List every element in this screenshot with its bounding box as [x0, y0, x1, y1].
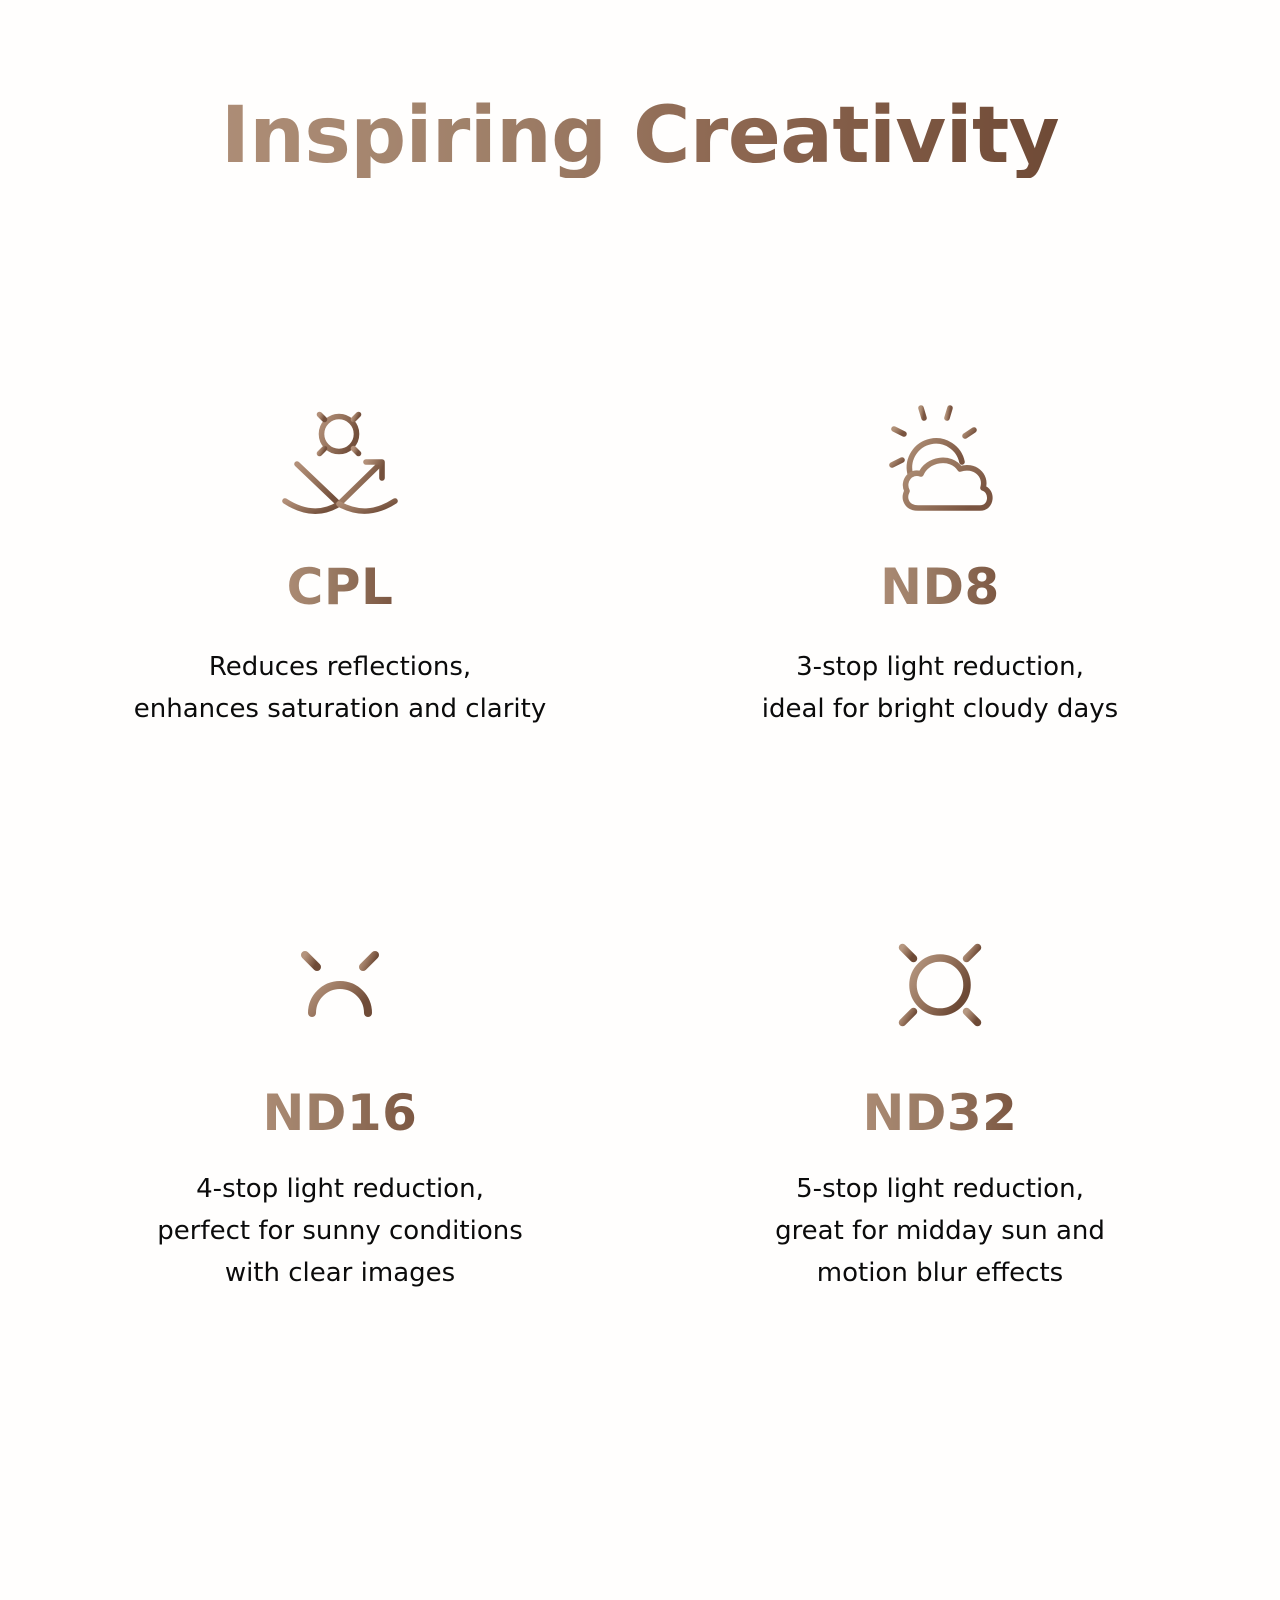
sun-reflection-polarizer-icon: [260, 400, 420, 520]
page-title: Inspiring Creativity: [221, 96, 1059, 178]
page-title-container: Inspiring Creativity: [0, 96, 1280, 178]
filter-description-nd8: 3-stop light reduction, ideal for bright…: [762, 646, 1118, 730]
filter-card-nd16: ND16 4-stop light reduction, perfect for…: [40, 930, 640, 1460]
bright-sun-icon: [860, 930, 1020, 1040]
filter-description-cpl: Reduces reflections, enhances saturation…: [134, 646, 546, 730]
filter-name-nd32: ND32: [863, 1088, 1018, 1138]
sun-behind-cloud-icon: [860, 400, 1020, 520]
filter-grid: CPL Reduces reflections, enhances satura…: [40, 400, 1240, 1460]
filter-name-cpl: CPL: [287, 562, 394, 612]
sunrise-horizon-icon: [260, 930, 420, 1040]
filter-name-nd16: ND16: [263, 1088, 418, 1138]
filter-card-nd8: ND8 3-stop light reduction, ideal for br…: [640, 400, 1240, 930]
filter-card-nd32: ND32 5-stop light reduction, great for m…: [640, 930, 1240, 1460]
filter-card-cpl: CPL Reduces reflections, enhances satura…: [40, 400, 640, 930]
filter-description-nd32: 5-stop light reduction, great for midday…: [775, 1168, 1105, 1294]
filter-name-nd8: ND8: [880, 562, 1000, 612]
filter-description-nd16: 4-stop light reduction, perfect for sunn…: [157, 1168, 523, 1294]
marketing-feature-page: Inspiring Creativity: [0, 0, 1280, 1600]
